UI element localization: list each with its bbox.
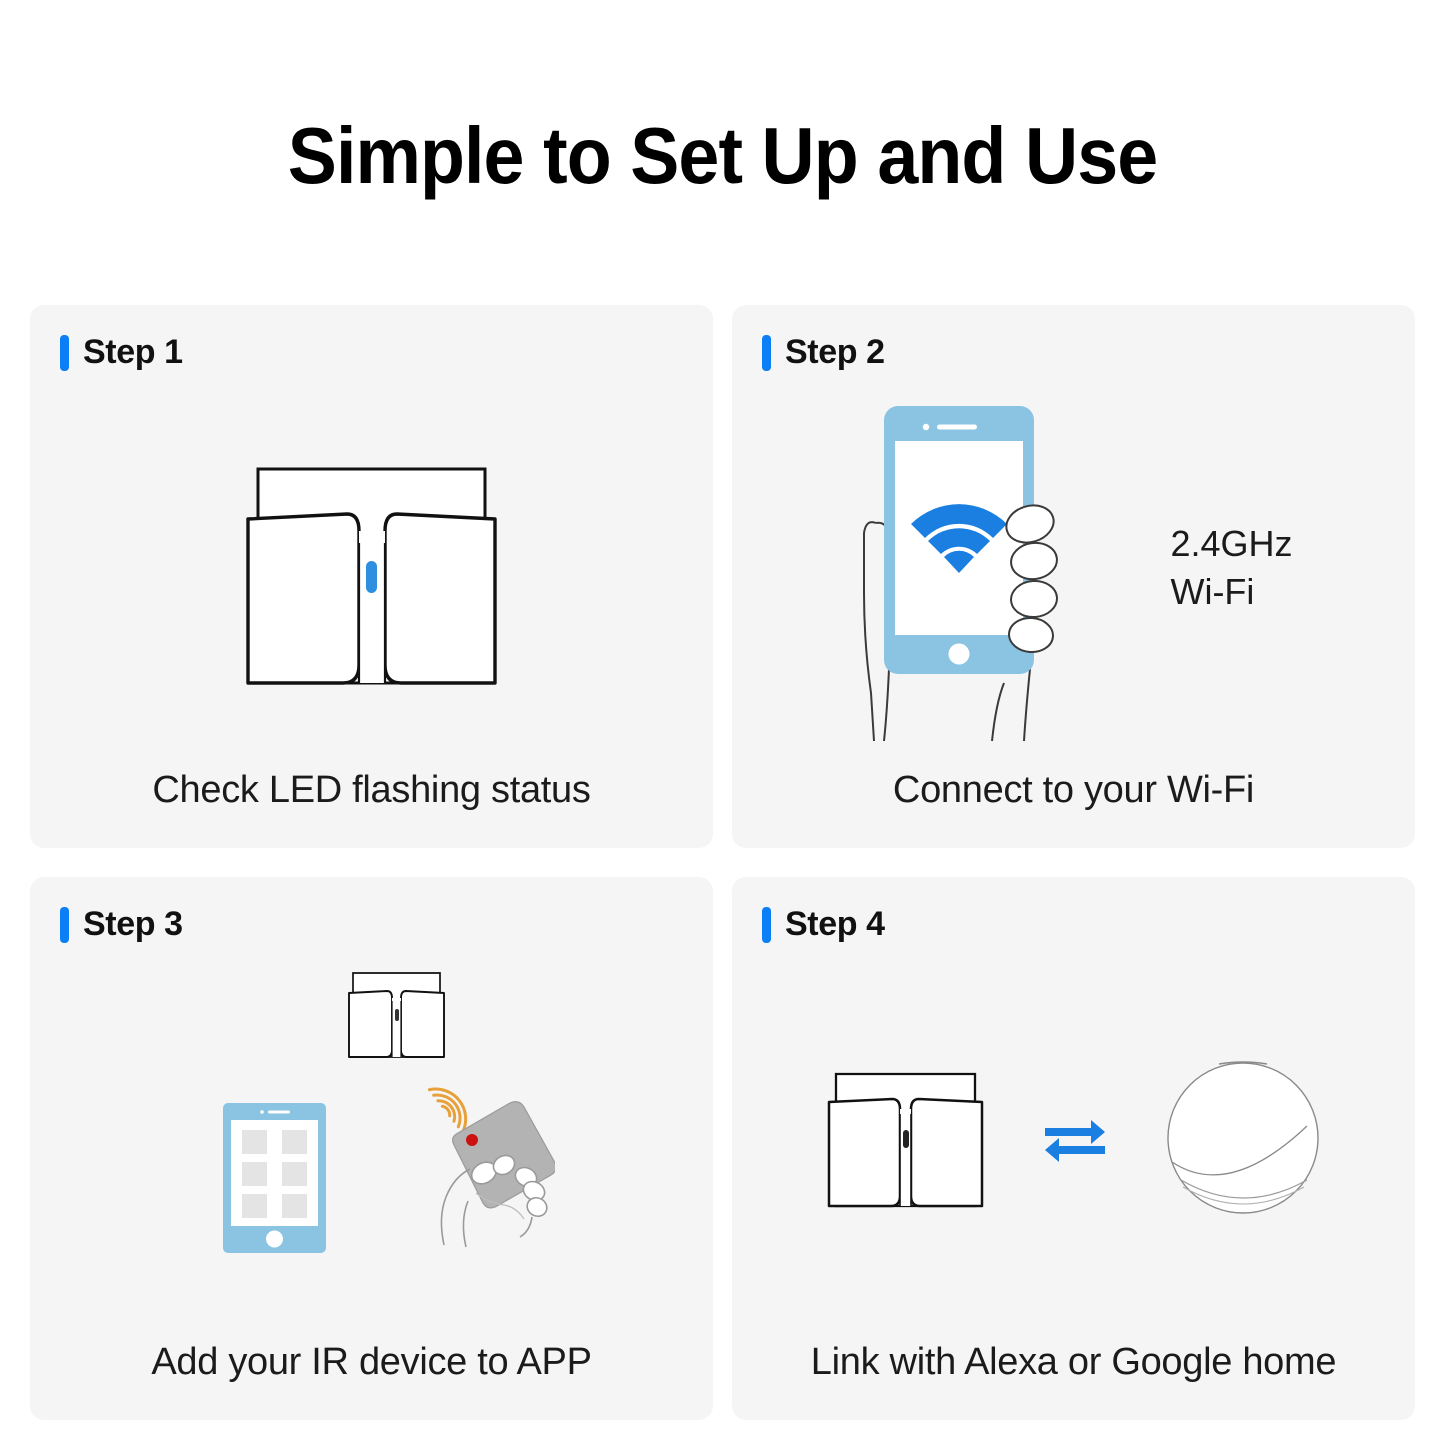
ir-blaster-device-icon xyxy=(227,443,517,693)
step-marker-bar-icon xyxy=(762,907,771,943)
ir-blaster-device-icon xyxy=(341,965,451,1065)
step-1-illustration xyxy=(30,385,713,750)
phone-home-button xyxy=(949,643,970,664)
step-3-label: Step 3 xyxy=(83,905,183,944)
steps-grid: Step 1 Check xyxy=(30,305,1415,1420)
step-3-illustration xyxy=(30,957,713,1322)
setup-guide-page: Simple to Set Up and Use Step 1 xyxy=(0,0,1445,1445)
phone-app-grid-icon xyxy=(223,1103,326,1253)
step-4-header: Step 4 xyxy=(762,905,885,944)
app-tile xyxy=(282,1194,307,1218)
phone-home-button xyxy=(266,1231,283,1248)
app-tile xyxy=(242,1162,267,1186)
step-2-caption: Connect to your Wi-Fi xyxy=(732,769,1415,812)
led-indicator-icon xyxy=(395,1009,399,1021)
hand-holding-remote-icon xyxy=(420,1085,555,1250)
app-tile xyxy=(242,1130,267,1154)
step-marker-bar-icon xyxy=(60,907,69,943)
step-card-4: Step 4 xyxy=(732,877,1415,1420)
blue-led-indicator-icon xyxy=(366,561,377,593)
step-2-illustration: 2.4GHz Wi-Fi xyxy=(732,385,1415,750)
led-indicator-icon xyxy=(903,1130,909,1148)
step-3-caption: Add your IR device to APP xyxy=(30,1341,713,1384)
bidirectional-arrows-icon xyxy=(1041,1114,1109,1166)
ir-signal-waves-icon xyxy=(429,1085,476,1132)
app-tile xyxy=(282,1162,307,1186)
app-tile xyxy=(242,1194,267,1218)
step-2-label: Step 2 xyxy=(785,333,885,372)
red-led-icon xyxy=(466,1134,478,1146)
step-1-header: Step 1 xyxy=(60,333,183,372)
page-title: Simple to Set Up and Use xyxy=(58,114,1387,198)
hand-holding-phone-icon xyxy=(854,393,1084,743)
app-tile xyxy=(282,1130,307,1154)
smart-speaker-sphere-icon xyxy=(1157,1054,1329,1226)
step-3-header: Step 3 xyxy=(60,905,183,944)
step-marker-bar-icon xyxy=(60,335,69,371)
step-card-3: Step 3 xyxy=(30,877,713,1420)
step-4-label: Step 4 xyxy=(785,905,885,944)
ir-blaster-device-icon xyxy=(818,1064,993,1216)
step-4-illustration xyxy=(732,957,1415,1322)
step-1-caption: Check LED flashing status xyxy=(30,769,713,812)
step-card-1: Step 1 Check xyxy=(30,305,713,848)
wifi-band-text: 2.4GHz Wi-Fi xyxy=(1170,520,1292,615)
step-card-2: Step 2 xyxy=(732,305,1415,848)
step-2-header: Step 2 xyxy=(762,333,885,372)
step-1-label: Step 1 xyxy=(83,333,183,372)
step-marker-bar-icon xyxy=(762,335,771,371)
step-4-caption: Link with Alexa or Google home xyxy=(732,1341,1415,1384)
